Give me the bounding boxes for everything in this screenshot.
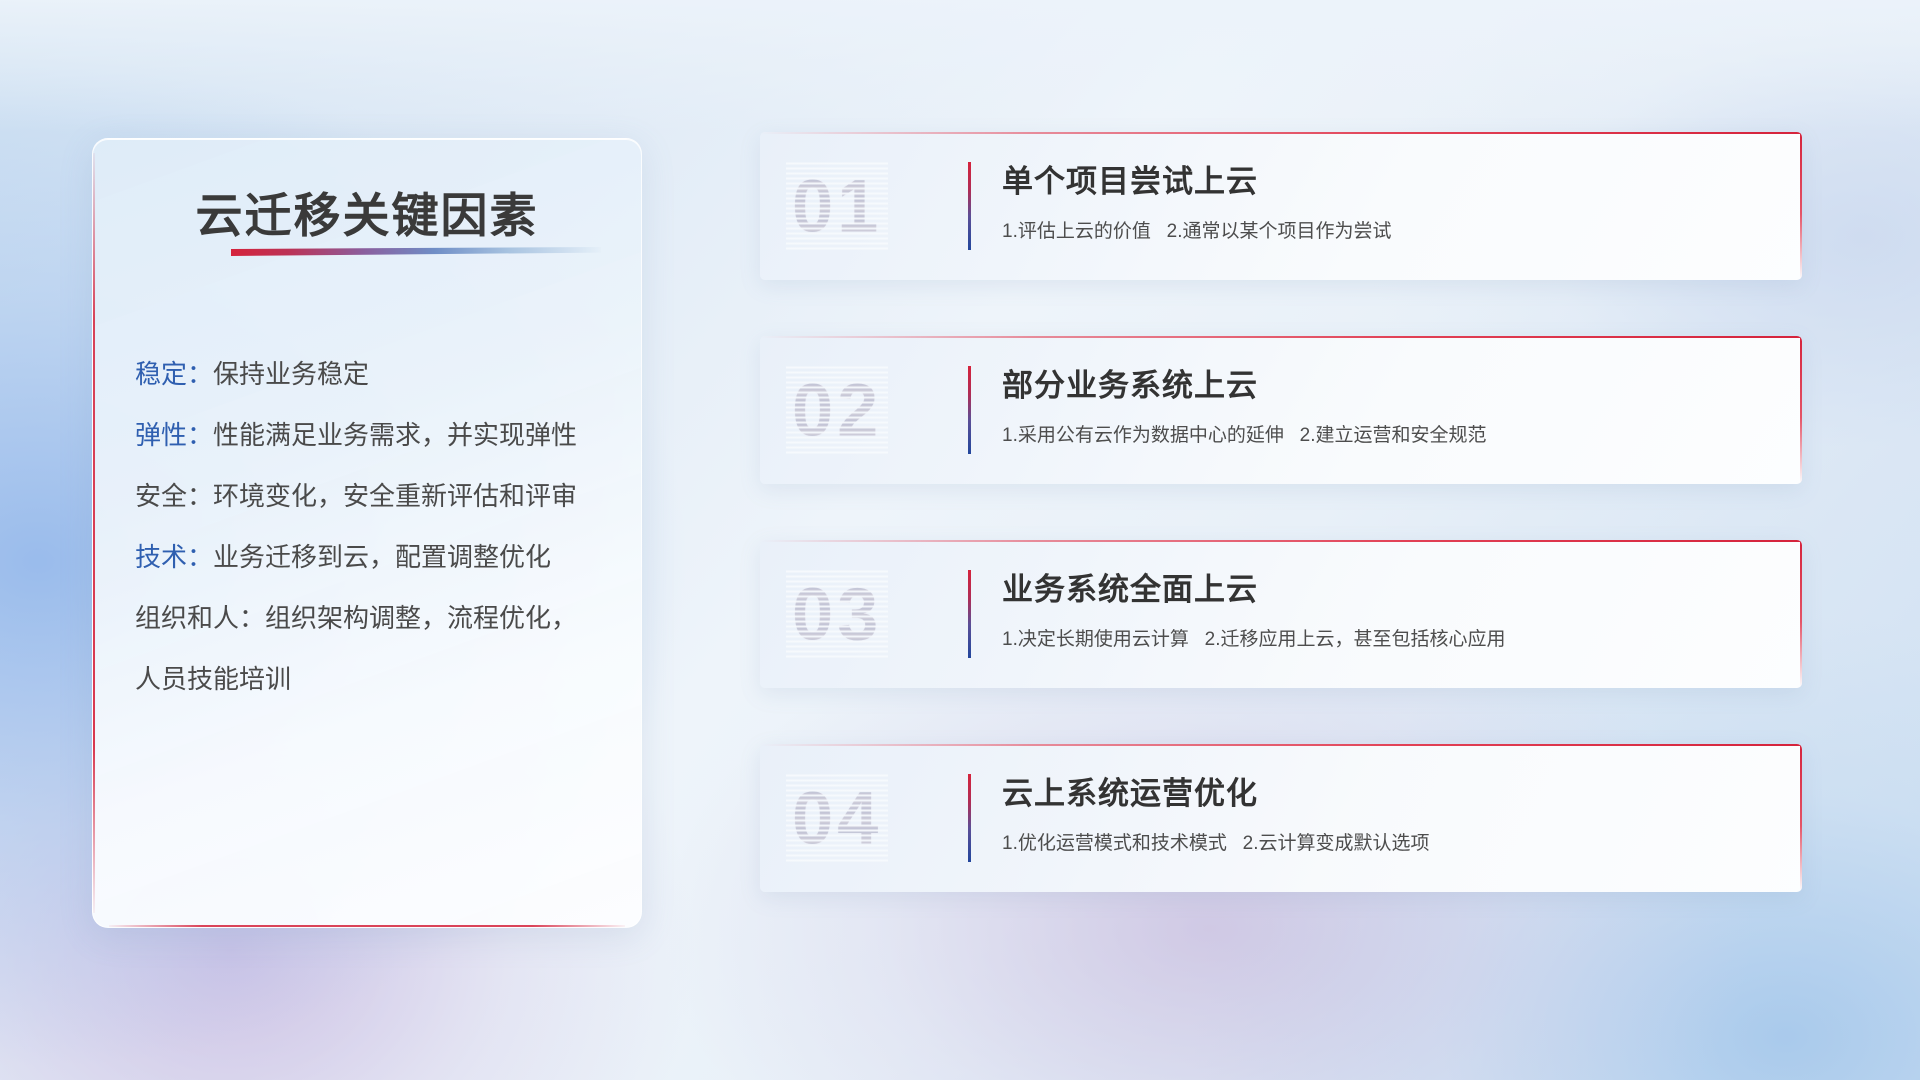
card-description: 1.决定长期使用云计算 2.迁移应用上云，甚至包括核心应用 [1002, 626, 1774, 654]
card-body: 云上系统运营优化 1.优化运营模式和技术模式 2.云计算变成默认选项 [1002, 772, 1774, 858]
slide-canvas: 云迁移关键因素 稳定：保持业务稳定 弹性：性能满足业务需求，并实现弹性 安全：环… [0, 0, 1920, 1080]
card-body: 部分业务系统上云 1.采用公有云作为数据中心的延伸 2.建立运营和安全规范 [1002, 364, 1774, 450]
card-right-accent-line [1800, 336, 1802, 484]
factor-text: 保持业务稳定 [213, 359, 369, 389]
factor-text: 组织架构调整，流程优化， [265, 603, 577, 633]
stage-cards-list: 01 单个项目尝试上云 1.评估上云的价值 2.通常以某个项目作为尝试 02 部… [760, 132, 1802, 948]
factor-item: 稳定：保持业务稳定 [135, 344, 613, 405]
card-heading: 单个项目尝试上云 [1002, 160, 1774, 204]
panel-left-accent-line [93, 153, 95, 913]
page-title: 云迁移关键因素 [93, 177, 641, 246]
factor-text: 性能满足业务需求，并实现弹性 [213, 420, 577, 450]
card-description: 1.优化运营模式和技术模式 2.云计算变成默认选项 [1002, 830, 1774, 858]
panel-bottom-accent-line [109, 925, 625, 927]
card-divider-line [968, 570, 971, 658]
card-top-accent-line [760, 744, 1802, 746]
card-heading: 业务系统全面上云 [1002, 568, 1774, 612]
card-number-watermark: 01 [792, 164, 882, 249]
factor-text: 环境变化，安全重新评估和评审 [213, 481, 577, 511]
card-right-accent-line [1800, 132, 1802, 280]
card-number-watermark: 02 [792, 368, 882, 453]
card-description: 1.采用公有云作为数据中心的延伸 2.建立运营和安全规范 [1002, 422, 1774, 450]
factor-item: 技术：业务迁移到云，配置调整优化 [135, 527, 613, 588]
card-number-watermark: 03 [792, 572, 882, 657]
card-top-accent-line [760, 336, 1802, 338]
card-right-accent-line [1800, 540, 1802, 688]
title-underline-gradient [231, 247, 601, 256]
factor-label: 安全： [135, 481, 213, 511]
card-heading: 云上系统运营优化 [1002, 772, 1774, 816]
card-divider-line [968, 366, 971, 454]
factor-text: 人员技能培训 [135, 664, 291, 694]
card-body: 业务系统全面上云 1.决定长期使用云计算 2.迁移应用上云，甚至包括核心应用 [1002, 568, 1774, 654]
card-body: 单个项目尝试上云 1.评估上云的价值 2.通常以某个项目作为尝试 [1002, 160, 1774, 246]
card-divider-line [968, 162, 971, 250]
factors-list: 稳定：保持业务稳定 弹性：性能满足业务需求，并实现弹性 安全：环境变化，安全重新… [135, 344, 613, 710]
factor-label: 稳定： [135, 359, 213, 389]
stage-card-01[interactable]: 01 单个项目尝试上云 1.评估上云的价值 2.通常以某个项目作为尝试 [760, 132, 1802, 280]
card-divider-line [968, 774, 971, 862]
factor-label: 组织和人： [135, 603, 265, 633]
key-factors-panel: 云迁移关键因素 稳定：保持业务稳定 弹性：性能满足业务需求，并实现弹性 安全：环… [92, 138, 642, 928]
card-description: 1.评估上云的价值 2.通常以某个项目作为尝试 [1002, 218, 1774, 246]
factor-text: 业务迁移到云，配置调整优化 [213, 542, 551, 572]
card-heading: 部分业务系统上云 [1002, 364, 1774, 408]
card-top-accent-line [760, 132, 1802, 134]
stage-card-03[interactable]: 03 业务系统全面上云 1.决定长期使用云计算 2.迁移应用上云，甚至包括核心应… [760, 540, 1802, 688]
stage-card-04[interactable]: 04 云上系统运营优化 1.优化运营模式和技术模式 2.云计算变成默认选项 [760, 744, 1802, 892]
factor-item: 组织和人：组织架构调整，流程优化， [135, 588, 613, 649]
factor-label: 技术： [135, 542, 213, 572]
factor-label: 弹性： [135, 420, 213, 450]
card-top-accent-line [760, 540, 1802, 542]
factor-item: 安全：环境变化，安全重新评估和评审 [135, 466, 613, 527]
factor-item: 弹性：性能满足业务需求，并实现弹性 [135, 405, 613, 466]
stage-card-02[interactable]: 02 部分业务系统上云 1.采用公有云作为数据中心的延伸 2.建立运营和安全规范 [760, 336, 1802, 484]
card-number-watermark: 04 [792, 776, 882, 861]
card-right-accent-line [1800, 744, 1802, 892]
factor-item-continuation: 人员技能培训 [135, 649, 613, 710]
